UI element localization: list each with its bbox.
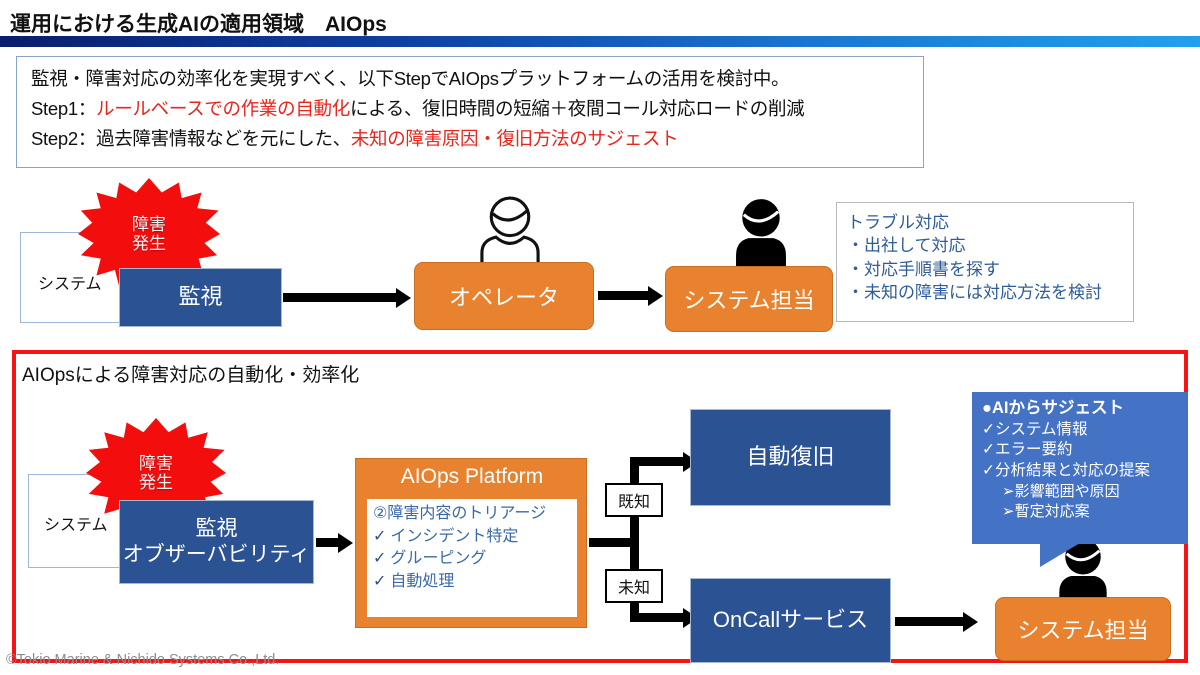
aiops-detail-item-3: ✓自動処理	[373, 571, 572, 594]
arrow-oncall-to-staff-line	[895, 617, 965, 626]
summary-text-box: 監視・障害対応の効率化を実現すべく、以下StepでAIOpsプラットフォームの活…	[16, 56, 924, 168]
oncall-service-box: OnCallサービス	[690, 578, 891, 663]
arrow-to-auto-recovery-line	[630, 457, 685, 466]
summary-line-1: 監視・障害対応の効率化を実現すべく、以下StepでAIOpsプラットフォームの活…	[31, 65, 789, 91]
aiops-item-label-1: インシデント特定	[390, 528, 518, 545]
summary-line-2: Step1：ルールベースでの作業の自動化による、復旧時間の短縮＋夜間コール対応ロ…	[31, 95, 804, 121]
ai-callout-heading: ●AIからサジェスト	[982, 398, 1180, 420]
step2-highlight: 未知の障害原因・復旧方法のサジェスト	[351, 128, 679, 149]
star-line1-current: 障害	[132, 215, 166, 234]
arrow-monitor-to-operator-line	[283, 293, 398, 302]
arrow-operator-to-staff-line	[598, 291, 650, 300]
star-line1-aiops: 障害	[139, 454, 173, 473]
check-icon-2: ✓	[373, 550, 386, 567]
aiops-detail-item-2: ✓グルーピング	[373, 548, 572, 571]
monitoring-line-1: 監視	[196, 516, 238, 542]
aiops-platform-detail-panel: ②障害内容のトリアージ ✓インシデント特定 ✓グルーピング ✓自動処理	[367, 499, 577, 617]
ai-callout-item-3: ✓分析結果と対応の提案	[982, 461, 1180, 482]
summary-line-3: Step2：過去障害情報などを元にした、未知の障害原因・復旧方法のサジェスト	[31, 125, 678, 151]
monitoring-box-current: 監視	[119, 268, 282, 327]
star-line2-aiops: 発生	[139, 473, 173, 492]
copyright-footer: ©Tokio Marine & Nichido Systems Co.,Ltd.	[6, 652, 279, 668]
ai-callout-subitem-1: ➢影響範囲や原因	[982, 482, 1180, 502]
auto-recovery-box: 自動復旧	[690, 409, 891, 506]
callout-item-1: ・出社して対応	[847, 234, 1123, 257]
system-staff-box-current: システム担当	[665, 266, 833, 332]
arrow-monitor-to-operator-head	[396, 288, 411, 308]
ai-callout-subitem-2: ➢暫定対応案	[982, 502, 1180, 522]
aiops-detail-item-1: ✓インシデント特定	[373, 526, 572, 549]
monitoring-line-2: オブザーバビリティ	[123, 542, 311, 568]
aiops-detail-heading: ②障害内容のトリアージ	[373, 503, 572, 526]
monitoring-observability-box: 監視 オブザーバビリティ	[119, 500, 314, 584]
page-title: 運用における生成AIの適用領域 AIOps	[10, 8, 387, 38]
ai-callout-item-2: ✓エラー要約	[982, 440, 1180, 461]
aiops-item-label-2: グルーピング	[390, 550, 486, 567]
ai-suggest-callout: ●AIからサジェスト ✓システム情報 ✓エラー要約 ✓分析結果と対応の提案 ➢影…	[972, 392, 1188, 544]
callout-title: トラブル対応	[847, 211, 1123, 234]
aiops-platform-title: AIOps Platform	[356, 465, 588, 489]
system-staff-box-aiops: システム担当	[995, 597, 1171, 661]
callout-item-3: ・未知の障害には対応方法を検討	[847, 281, 1123, 304]
branch-tag-unknown: 未知	[605, 569, 663, 603]
arrow-monitor-to-platform-line	[316, 538, 340, 547]
callout-item-2: ・対応手順書を探す	[847, 258, 1123, 281]
arrow-monitor-to-platform-head	[338, 533, 353, 553]
ai-callout-tail	[1040, 543, 1080, 567]
step2-prefix: Step2：過去障害情報などを元にした、	[31, 128, 351, 149]
arrow-to-oncall-line	[630, 613, 685, 622]
step1-highlight: ルールベースでの作業の自動化	[96, 98, 350, 119]
trouble-response-callout: トラブル対応 ・出社して対応 ・対応手順書を探す ・未知の障害には対応方法を検討	[836, 202, 1134, 322]
slide-canvas: 運用における生成AIの適用領域 AIOps 監視・障害対応の効率化を実現すべく、…	[0, 0, 1200, 675]
system-staff-person-icon-current	[722, 196, 800, 274]
step1-prefix: Step1：	[31, 98, 96, 119]
check-icon-1: ✓	[373, 528, 386, 545]
branch-tag-known: 既知	[605, 483, 663, 517]
arrow-operator-to-staff-head	[648, 286, 663, 306]
ai-callout-item-1: ✓システム情報	[982, 420, 1180, 441]
title-gradient-rule	[0, 36, 1200, 47]
check-icon-3: ✓	[373, 573, 386, 590]
aiops-platform-box: AIOps Platform ②障害内容のトリアージ ✓インシデント特定 ✓グル…	[355, 458, 587, 628]
incident-star-text-aiops: 障害 発生	[139, 454, 173, 492]
aiops-item-label-3: 自動処理	[390, 573, 454, 590]
operator-box: オペレータ	[414, 262, 594, 330]
aiops-section-title: AIOpsによる障害対応の自動化・効率化	[22, 360, 359, 387]
arrow-oncall-to-staff-head	[963, 612, 978, 632]
step1-suffix: による、復旧時間の短縮＋夜間コール対応ロードの削減	[350, 98, 804, 119]
incident-star-text-current: 障害 発生	[132, 215, 166, 253]
star-line2-current: 発生	[132, 234, 166, 253]
